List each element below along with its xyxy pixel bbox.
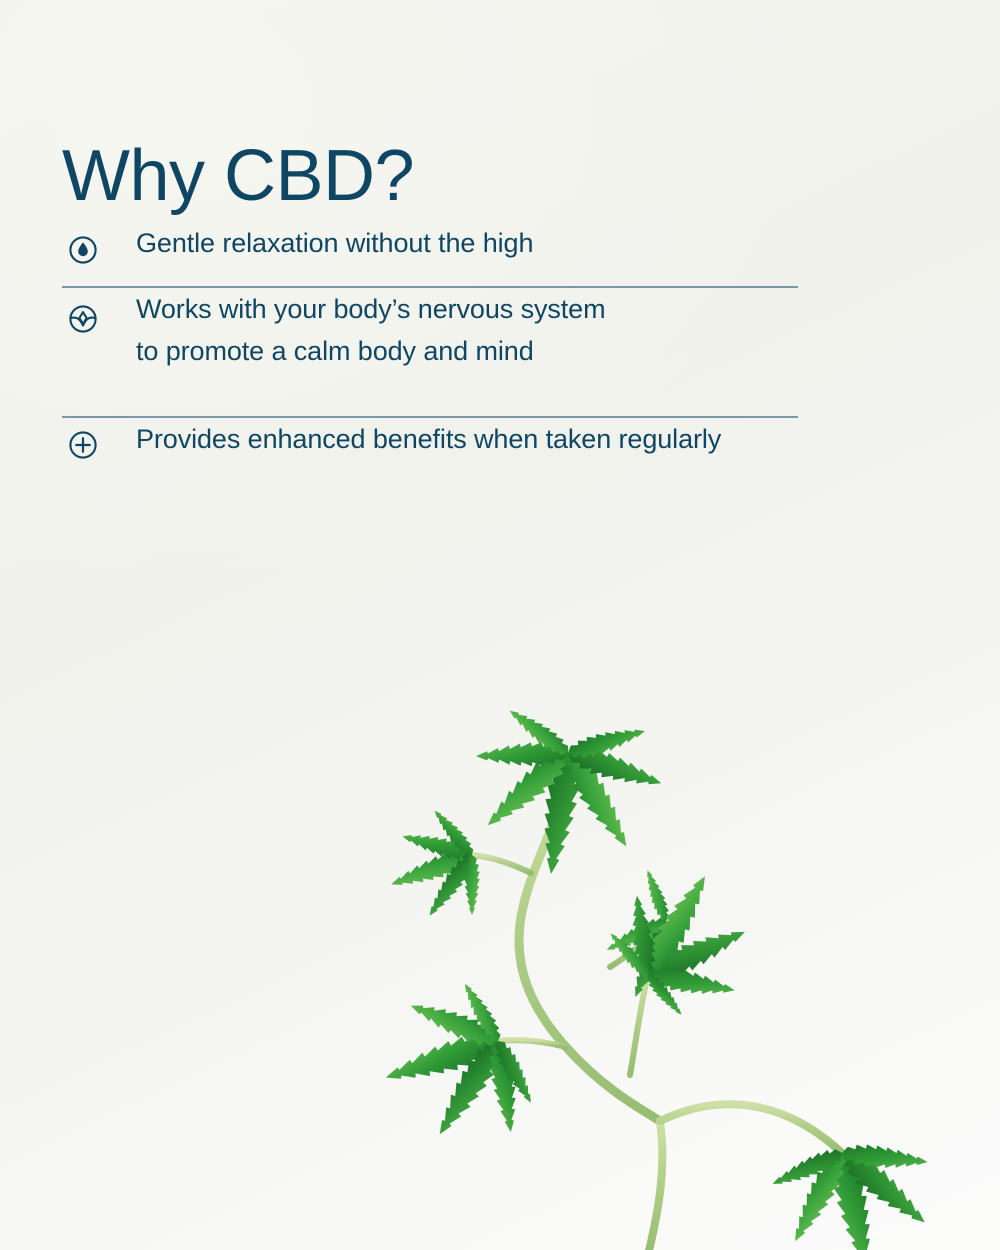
plus-circle-icon (68, 430, 98, 460)
benefit-item-relaxation: Gentle relaxation without the high (62, 222, 902, 286)
benefit-item-enhanced-benefits: Provides enhanced benefits when taken re… (62, 418, 902, 478)
page-title: Why CBD? (62, 140, 414, 212)
droplet-circle-icon (68, 235, 98, 265)
benefits-list: Gentle relaxation without the high Works… (62, 222, 902, 478)
leaf-diamond-circle-icon (68, 304, 98, 334)
promo-card: Why CBD? Gentle relaxation without the h… (0, 0, 1000, 1250)
cannabis-plant-image (330, 555, 1000, 1250)
benefit-item-label: Works with your body’s nervous system to… (136, 288, 902, 372)
benefit-item-label: Provides enhanced benefits when taken re… (136, 418, 902, 460)
benefit-item-nervous-system: Works with your body’s nervous system to… (62, 288, 902, 416)
benefit-item-label: Gentle relaxation without the high (136, 222, 902, 264)
